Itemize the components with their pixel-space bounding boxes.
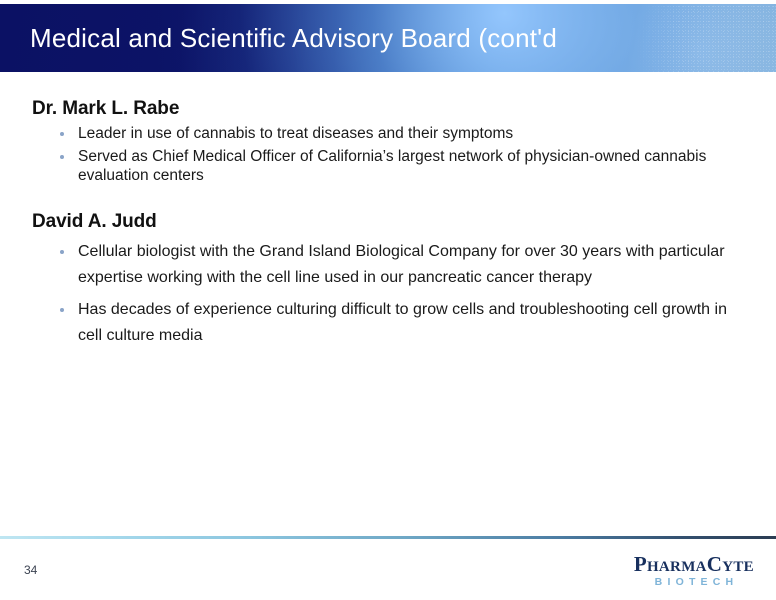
list-item: Leader in use of cannabis to treat disea… <box>0 124 776 143</box>
pharmacyte-logo: PharmaCyte BIOTECH <box>634 554 754 588</box>
bullet-dot-icon <box>60 250 64 254</box>
person-name: David A. Judd <box>0 185 776 233</box>
person-block-rabe: Dr. Mark L. Rabe Leader in use of cannab… <box>0 72 776 185</box>
slide-title: Medical and Scientific Advisory Board (c… <box>30 4 557 72</box>
footer-divider <box>0 536 776 539</box>
list-item: Has decades of experience culturing diff… <box>0 297 776 349</box>
slide-body: Dr. Mark L. Rabe Leader in use of cannab… <box>0 72 776 349</box>
cell-texture-overlay <box>586 4 776 72</box>
slide-header-banner: Medical and Scientific Advisory Board (c… <box>0 4 776 72</box>
list-item: Cellular biologist with the Grand Island… <box>0 239 776 291</box>
list-item: Served as Chief Medical Officer of Calif… <box>0 147 776 185</box>
bullet-list: Leader in use of cannabis to treat disea… <box>0 124 776 185</box>
slide: Medical and Scientific Advisory Board (c… <box>0 0 776 600</box>
bullet-dot-icon <box>60 155 64 159</box>
list-item-text: Cellular biologist with the Grand Island… <box>78 243 725 286</box>
list-item-text: Has decades of experience culturing diff… <box>78 301 727 344</box>
bullet-list: Cellular biologist with the Grand Island… <box>0 239 776 349</box>
logo-wordmark: PharmaCyte <box>634 554 754 575</box>
bullet-dot-icon <box>60 132 64 136</box>
bullet-dot-icon <box>60 308 64 312</box>
list-item-text: Served as Chief Medical Officer of Calif… <box>78 148 706 184</box>
logo-tagline: BIOTECH <box>634 577 754 588</box>
person-name: Dr. Mark L. Rabe <box>0 72 776 120</box>
person-block-judd: David A. Judd Cellular biologist with th… <box>0 185 776 349</box>
page-number: 34 <box>24 563 37 577</box>
list-item-text: Leader in use of cannabis to treat disea… <box>78 125 513 142</box>
